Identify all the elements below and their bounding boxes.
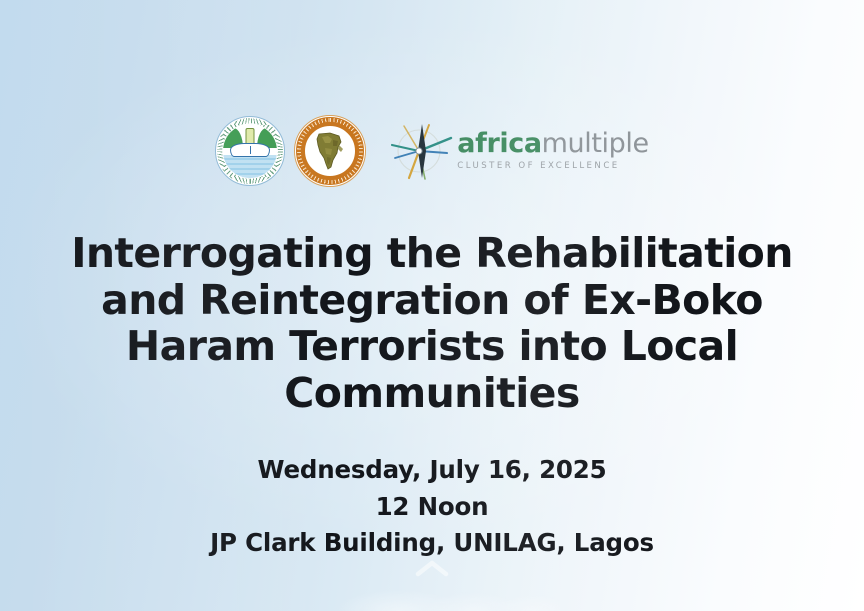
unilag-shield — [223, 124, 277, 178]
africa-map-icon — [313, 131, 347, 171]
title-line-4: Communities — [62, 370, 802, 417]
title-line-3: Haram Terrorists into Local — [62, 323, 802, 370]
africa-multiple-wordmark: africamultiple CLUSTER OF EXCELLENCE — [457, 130, 648, 172]
wordmark-line: africamultiple — [457, 130, 648, 157]
wordmark-africa: africa — [457, 128, 541, 159]
africa-multiple-logo: africamultiple CLUSTER OF EXCELLENCE — [389, 120, 648, 182]
event-venue: JP Clark Building, UNILAG, Lagos — [0, 525, 864, 562]
chevron-up-icon — [415, 558, 449, 578]
logo-strip: africamultiple CLUSTER OF EXCELLENCE — [0, 110, 864, 192]
cluster-of-excellence-tagline: CLUSTER OF EXCELLENCE — [457, 162, 648, 171]
wordmark-multiple: multiple — [542, 128, 649, 159]
title-line-2: and Reintegration of Ex-Boko — [62, 277, 802, 324]
compass-star-icon — [389, 120, 453, 182]
title-slide: africamultiple CLUSTER OF EXCELLENCE Int… — [0, 0, 864, 611]
event-date: Wednesday, July 16, 2025 — [0, 452, 864, 489]
event-details: Wednesday, July 16, 2025 12 Noon JP Clar… — [0, 452, 864, 562]
institute-african-diaspora-studies-seal-icon — [294, 115, 366, 187]
title-line-1: Interrogating the Rehabilitation — [62, 230, 802, 277]
university-of-lagos-crest-icon — [215, 116, 285, 186]
slide-title: Interrogating the Rehabilitation and Rei… — [0, 230, 864, 416]
unilag-water-icon — [223, 155, 277, 178]
unilag-open-book-icon — [230, 143, 270, 157]
bottom-watermark — [330, 577, 560, 611]
event-time: 12 Noon — [0, 489, 864, 526]
